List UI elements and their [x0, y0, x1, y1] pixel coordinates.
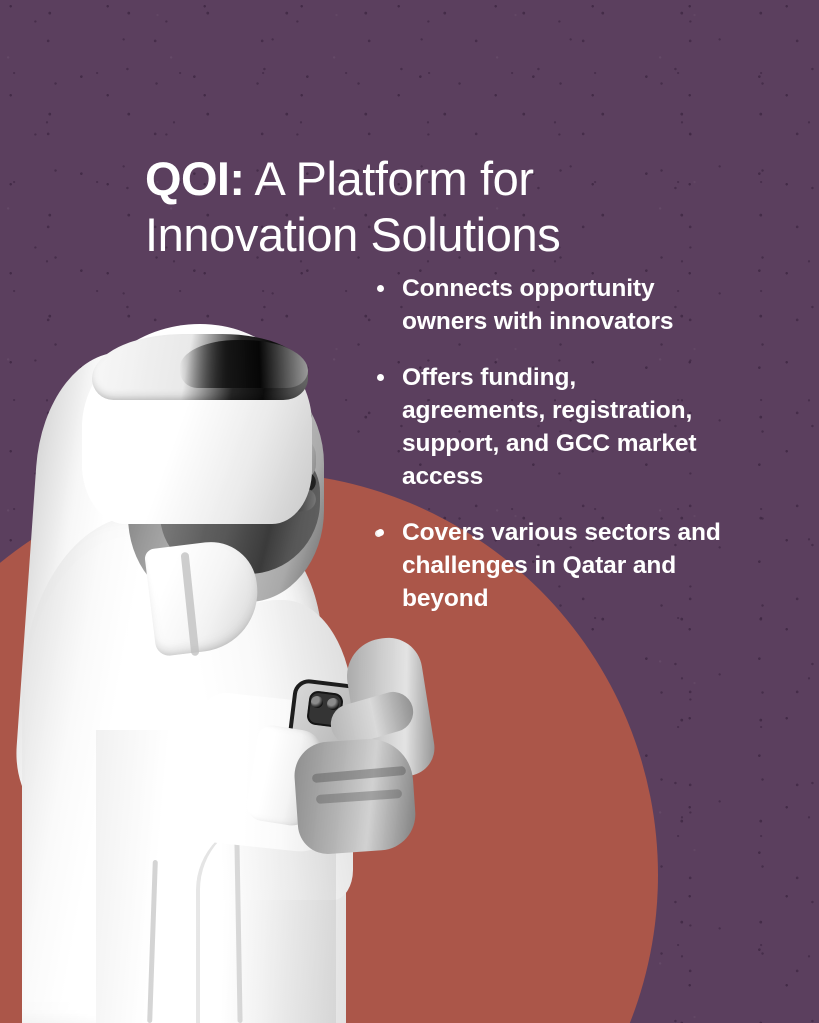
- agal-band-inner: [180, 340, 308, 388]
- bullet-item: Offers funding, agreements, registration…: [372, 361, 722, 493]
- bullet-list: Connects opportunity owners with innovat…: [372, 272, 722, 615]
- phone-camera-lens: [311, 696, 323, 708]
- brand-name: QOI:: [145, 152, 244, 205]
- slide-title: QOI: A Platform for Innovation Solutions: [145, 151, 705, 263]
- bullet-item: Connects opportunity owners with innovat…: [372, 272, 722, 338]
- bullet-item: Covers various sectors and challenges in…: [372, 516, 722, 615]
- thobe-fold-curve: [196, 820, 332, 1023]
- presentation-slide: QOI: A Platform for Innovation Solutions…: [0, 0, 819, 1023]
